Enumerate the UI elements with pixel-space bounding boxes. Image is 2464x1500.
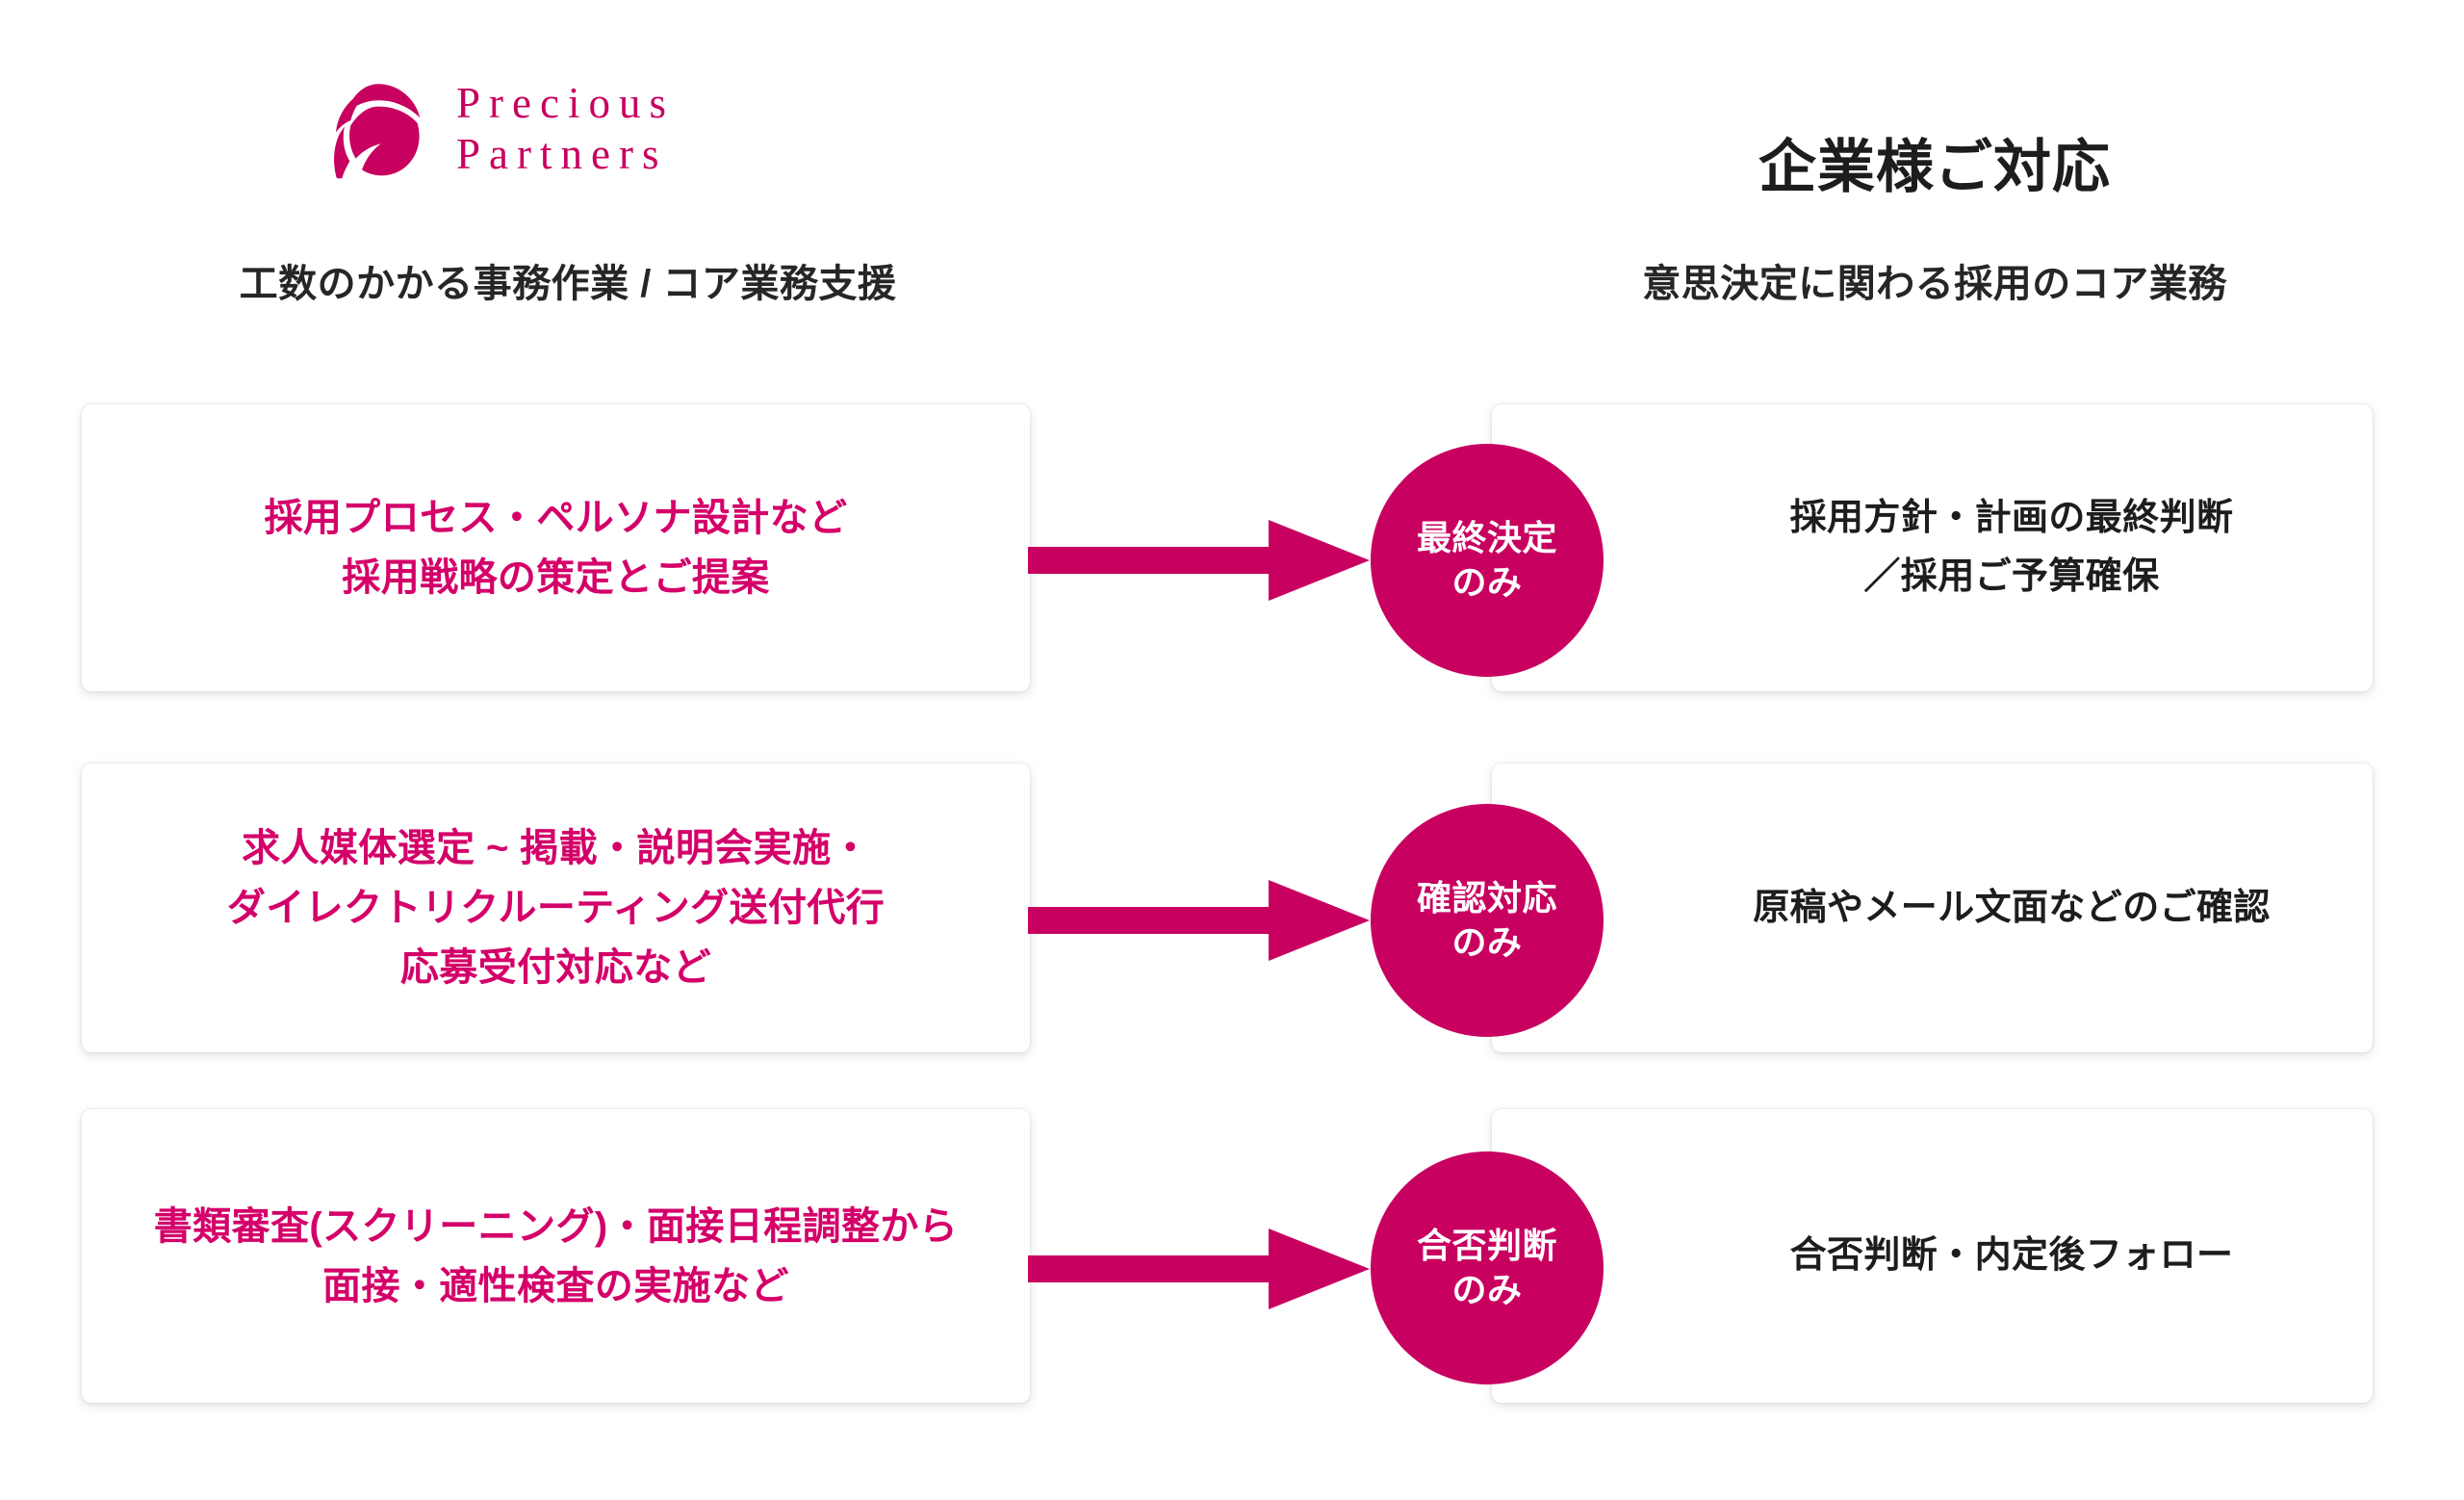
service-card-1: 採用プロセス・ペルソナ設計など 採用戦略の策定とご提案 [82,404,1030,691]
service-line: 面接・適性検査の実施など [154,1256,958,1316]
corporate-card-2: 原稿やメール文面などのご確認 [1492,763,2373,1052]
brand-name-line1: Precious [456,78,675,129]
corporate-line: 合否判断・内定後フォロー [1790,1227,2234,1285]
precious-partners-globe-mark-icon [327,77,431,181]
corporate-card-2-text: 原稿やメール文面などのご確認 [1594,879,2271,938]
brand-logo: Precious Partners [327,77,675,181]
right-arrow-icon [1028,514,1370,607]
decision-badge-2: 確認対応 のみ [1371,804,1604,1037]
decision-badge-3-line2: のみ [1451,1268,1522,1312]
right-column-title: 企業様ご対応 [1636,120,2233,204]
right-column-subtitle: 意思決定に関わる採用のコア業務 [1559,252,2310,308]
brand-wordmark: Precious Partners [456,78,675,180]
decision-badge-1: 最終決定 のみ [1371,444,1604,677]
corporate-card-3: 合否判断・内定後フォロー [1492,1109,2373,1403]
right-arrow-icon [1028,1223,1370,1315]
service-line: 求人媒体選定 ~ 掲載・説明会実施・ [227,818,885,878]
corporate-line: 採用方針・計画の最終判断 [1790,489,2234,548]
decision-badge-2-line2: のみ [1451,920,1522,965]
service-card-3-text: 書類審査(スクリーニング)・面接日程調整から 面接・適性検査の実施など [154,1197,958,1316]
corporate-card-3-text: 合否判断・内定後フォロー [1631,1227,2234,1285]
service-card-2-text: 求人媒体選定 ~ 掲載・説明会実施・ ダイレクトリクルーティング送付代行 応募受… [227,818,885,997]
service-card-3: 書類審査(スクリーニング)・面接日程調整から 面接・適性検査の実施など [82,1109,1030,1403]
corporate-line: ／採用ご予算確保 [1790,548,2234,607]
service-line: 採用プロセス・ペルソナ設計など [265,488,848,548]
service-card-1-text: 採用プロセス・ペルソナ設計など 採用戦略の策定とご提案 [265,488,848,608]
service-line: ダイレクトリクルーティング送付代行 [227,878,885,938]
decision-badge-1-line2: のみ [1451,560,1522,605]
brand-name-line2: Partners [456,129,675,180]
corporate-card-1: 採用方針・計画の最終判断 ／採用ご予算確保 [1492,404,2373,691]
diagram-canvas: Precious Partners 工数のかかる事務作業 / コア業務支援 企業… [0,0,2464,1500]
service-line: 採用戦略の策定とご提案 [265,548,848,608]
service-line: 書類審査(スクリーニング)・面接日程調整から [154,1197,958,1256]
decision-badge-3-line1: 合否判断 [1417,1224,1557,1268]
corporate-line: 原稿やメール文面などのご確認 [1753,879,2271,938]
decision-badge-1-line1: 最終決定 [1417,516,1557,560]
left-column-subtitle: 工数のかかる事務作業 / コア業務支援 [173,252,962,308]
corporate-card-1-text: 採用方針・計画の最終判断 ／採用ご予算確保 [1631,489,2234,607]
service-card-2: 求人媒体選定 ~ 掲載・説明会実施・ ダイレクトリクルーティング送付代行 応募受… [82,763,1030,1052]
decision-badge-2-line1: 確認対応 [1417,876,1557,920]
decision-badge-3: 合否判断 のみ [1371,1151,1604,1384]
right-arrow-icon [1028,874,1370,967]
service-line: 応募受付対応など [227,938,885,997]
